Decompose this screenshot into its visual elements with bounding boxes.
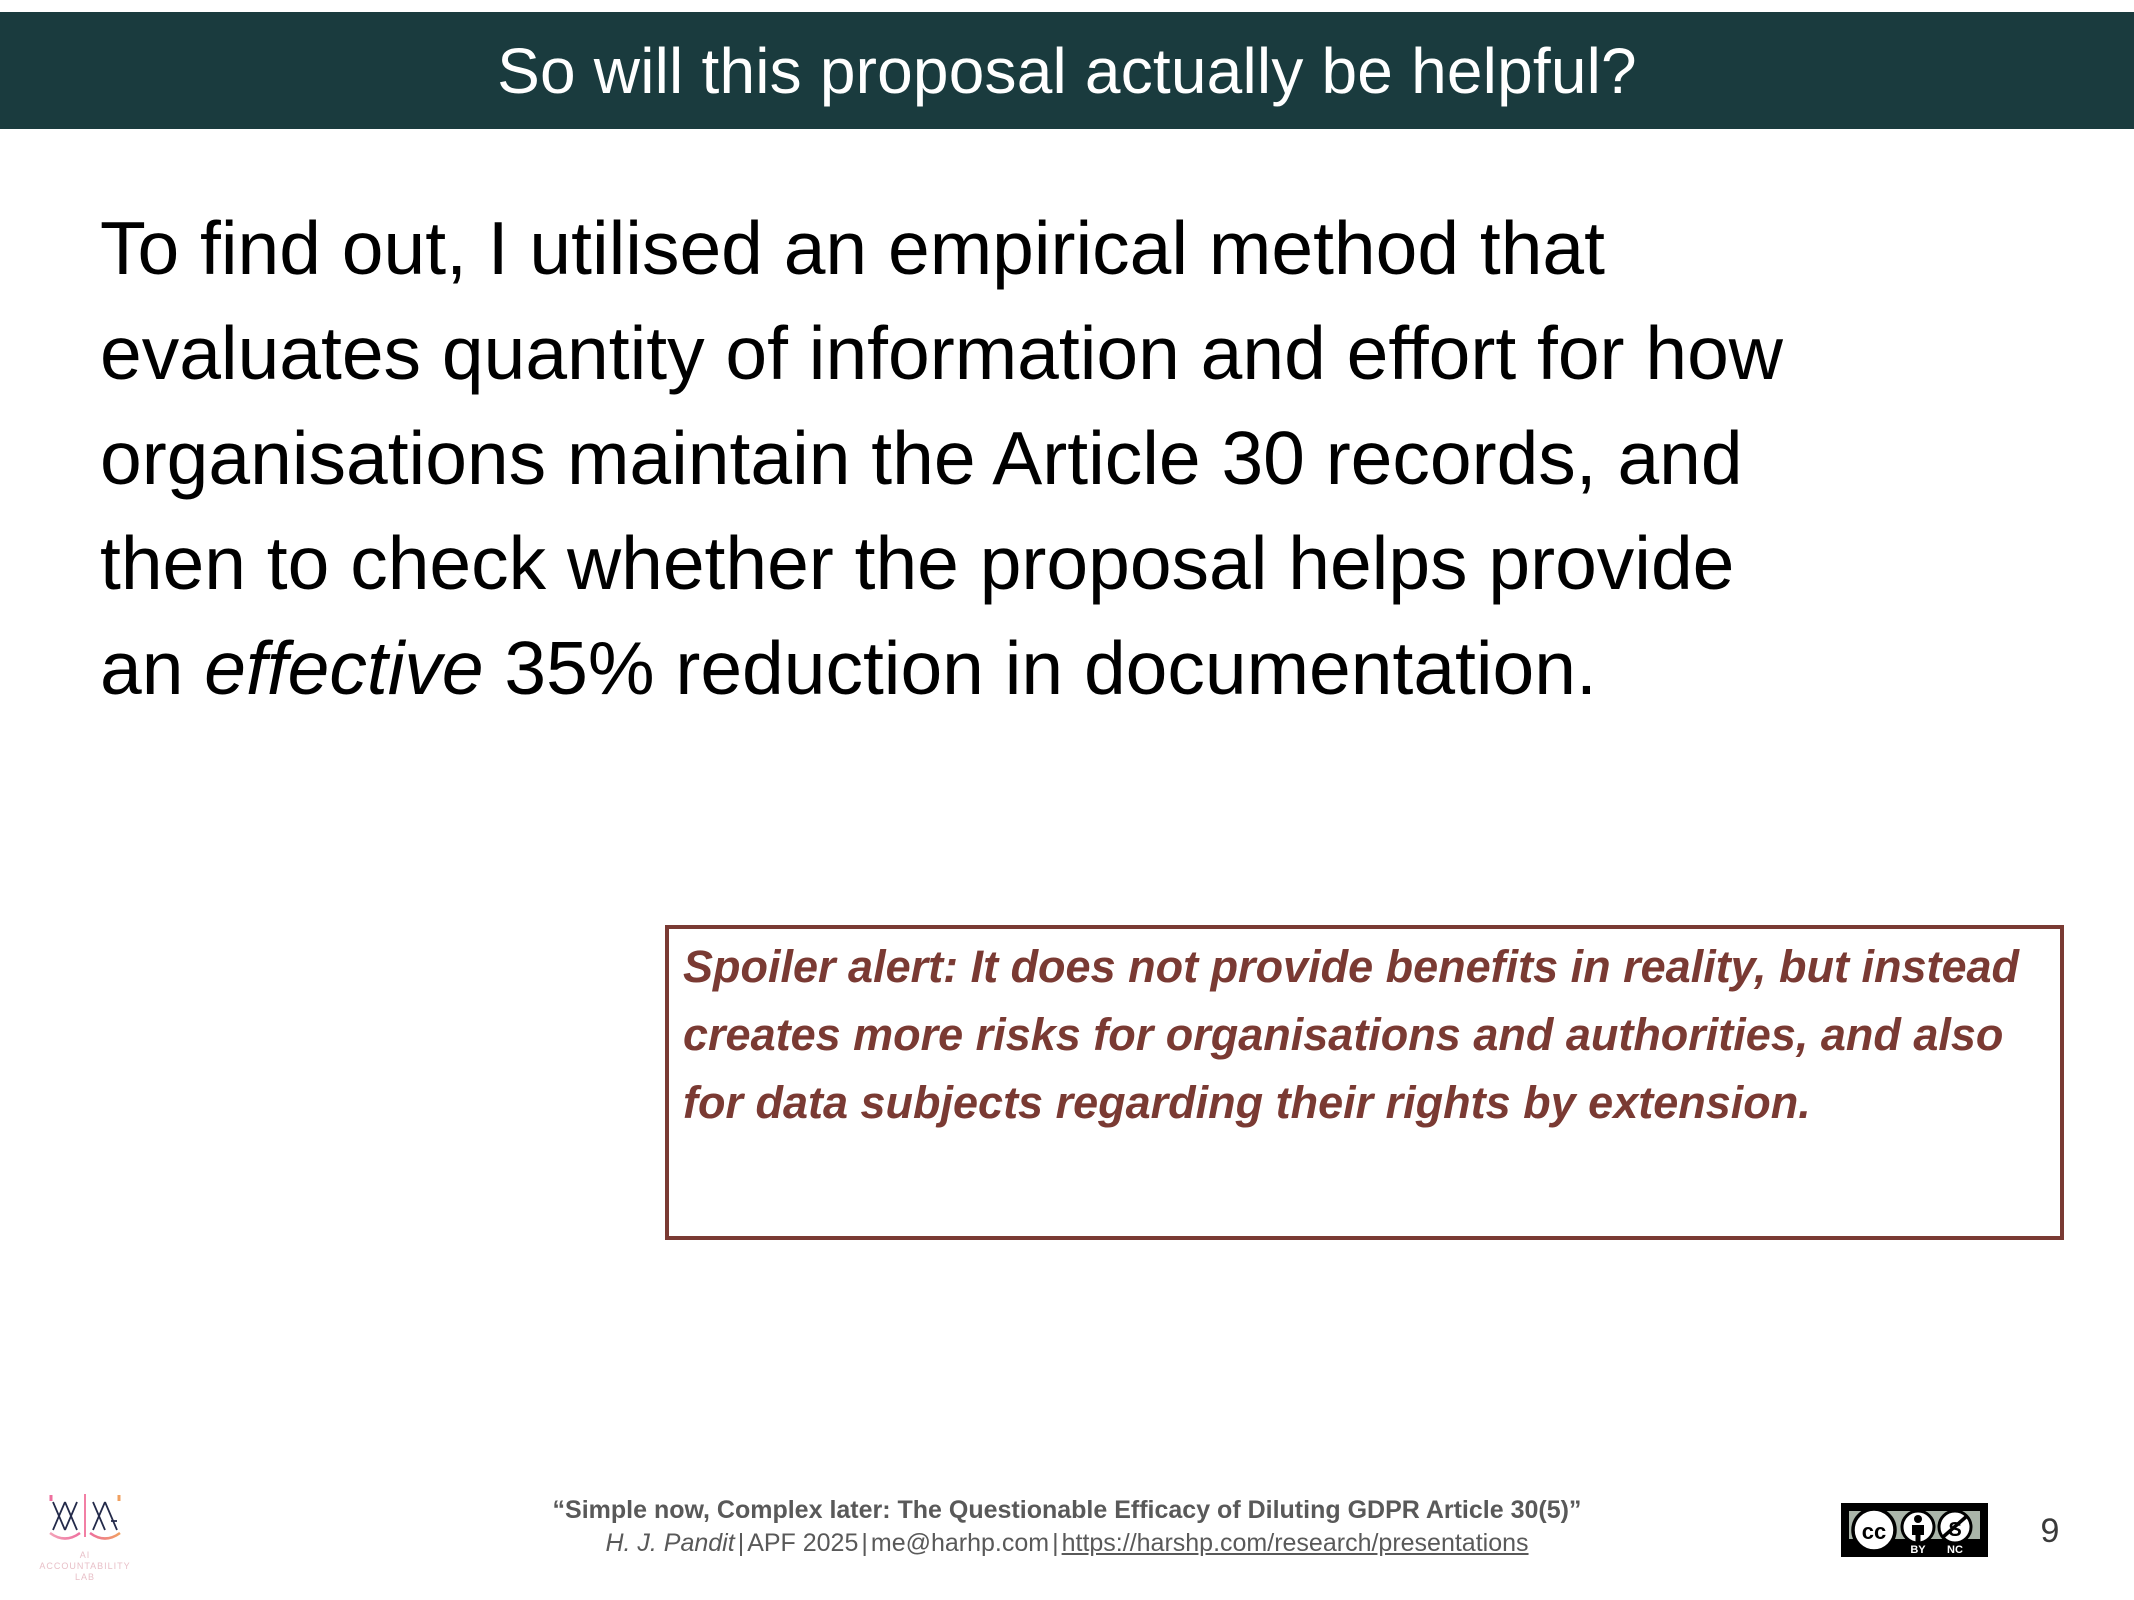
spoiler-alert-text: Spoiler alert: It does not provide benef… (683, 933, 2055, 1137)
body-line-5-suffix: 35% reduction in documentation. (484, 626, 1597, 710)
body-line-5-prefix: an (100, 626, 204, 710)
body-line-2-text: evaluates quantity of information and ef… (100, 311, 1783, 395)
scales-of-justice-icon (41, 1490, 129, 1548)
cc-by-nc-icon: cc BY S NC (1841, 1503, 1988, 1557)
body-line-3: organisations maintain the Article 30 re… (100, 406, 2060, 511)
footer-separator-1: | (735, 1529, 748, 1557)
body-line-3-text: organisations maintain the Article 30 re… (100, 416, 1743, 500)
ai-accountability-lab-logo: AI ACCOUNTABILITY LAB (30, 1490, 140, 1590)
body-emphasis-effective: effective (204, 626, 483, 710)
footer-separator-3: | (1049, 1529, 1062, 1557)
lab-caption-line-1: AI (30, 1550, 140, 1561)
lab-caption-line-3: LAB (30, 1572, 140, 1583)
footer-author: H. J. Pandit (605, 1529, 734, 1557)
body-line-1: To find out, I utilised an empirical met… (100, 196, 2060, 301)
slide-title: So will this proposal actually be helpfu… (497, 39, 1637, 103)
spoiler-alert-callout: Spoiler alert: It does not provide benef… (665, 925, 2064, 1240)
svg-text:BY: BY (1910, 1544, 1926, 1556)
footer-meta-line: H. J. Pandit|APF 2025|me@harhp.com|https… (0, 1526, 2134, 1560)
lab-caption-line-2: ACCOUNTABILITY (30, 1561, 140, 1572)
body-line-1-text: To find out, I utilised an empirical met… (100, 206, 1605, 290)
slide-title-bar: So will this proposal actually be helpfu… (0, 12, 2134, 129)
svg-text:cc: cc (1862, 1519, 1886, 1544)
body-line-5: an effective 35% reduction in documentat… (100, 616, 2060, 721)
footer: “Simple now, Complex later: The Question… (0, 1494, 2134, 1560)
footer-separator-2: | (858, 1529, 871, 1557)
body-line-4: then to check whether the proposal helps… (100, 511, 2060, 616)
body-line-2: evaluates quantity of information and ef… (100, 301, 2060, 406)
cc-by-nc-badge[interactable]: cc BY S NC (1841, 1503, 1988, 1557)
body-line-4-text: then to check whether the proposal helps… (100, 521, 1734, 605)
slide-body-text: To find out, I utilised an empirical met… (100, 196, 2060, 721)
footer-venue: APF 2025 (747, 1529, 858, 1557)
page-number: 9 (2020, 1512, 2080, 1551)
footer-email[interactable]: me@harhp.com (871, 1529, 1049, 1557)
slide-canvas: So will this proposal actually be helpfu… (0, 0, 2134, 1600)
lab-logo-caption: AI ACCOUNTABILITY LAB (30, 1550, 140, 1583)
svg-text:NC: NC (1947, 1544, 1963, 1556)
footer-paper-title: “Simple now, Complex later: The Question… (0, 1494, 2134, 1526)
footer-url-link[interactable]: https://harshp.com/research/presentation… (1062, 1529, 1529, 1557)
